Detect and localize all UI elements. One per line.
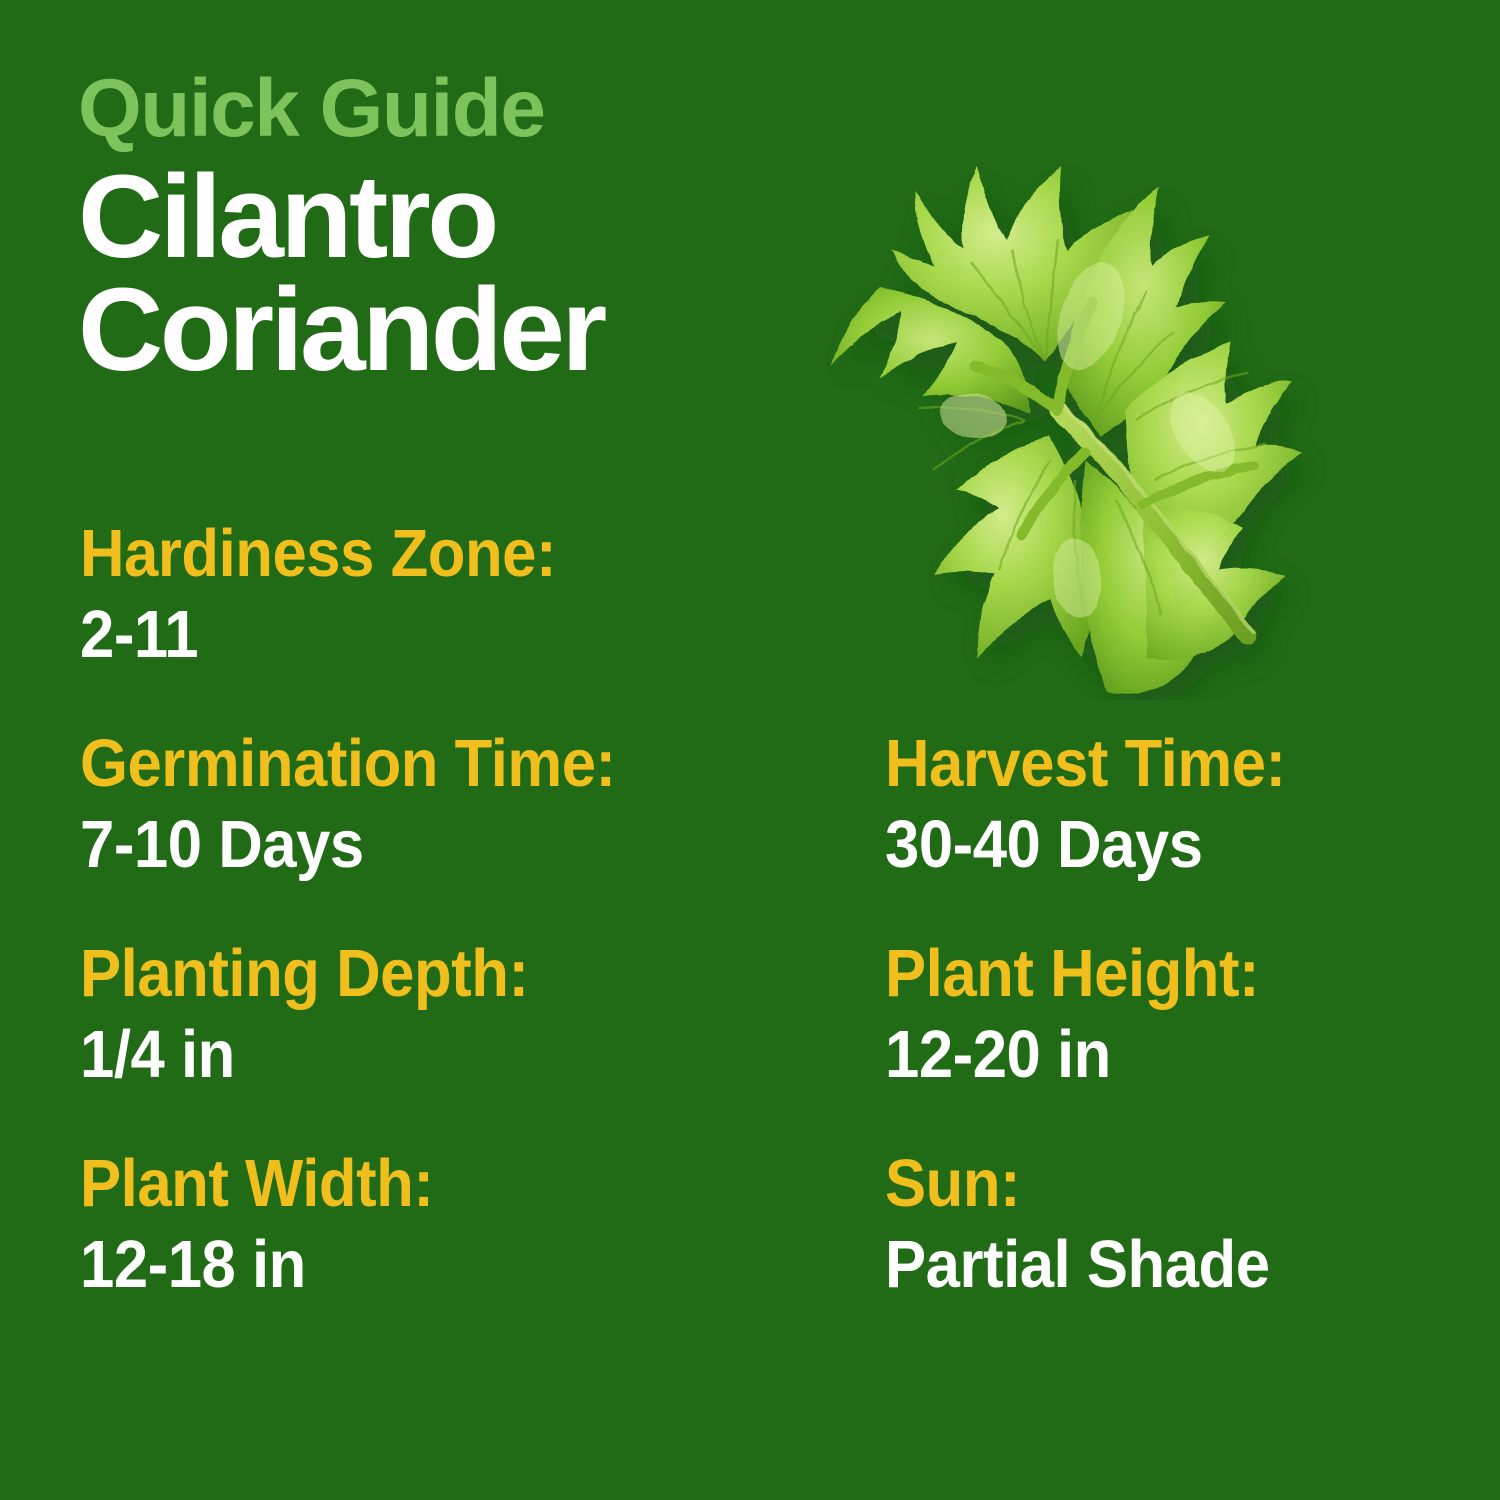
page-title-line-2: Coriander — [78, 269, 778, 392]
spec-value: 30-40 Days — [885, 811, 1396, 878]
spec-value: 1/4 in — [80, 1021, 821, 1088]
spec-cell-plant-height: Plant Height: 12-20 in — [885, 940, 1440, 1088]
spec-row: Hardiness Zone: 2-11 — [80, 520, 1440, 668]
spec-label: Germination Time: — [80, 730, 821, 797]
spec-cell-germination-time: Germination Time: 7-10 Days — [80, 730, 885, 878]
spec-label: Plant Width: — [80, 1150, 821, 1217]
spec-value: 12-20 in — [885, 1021, 1396, 1088]
spec-cell-hardiness-zone: Hardiness Zone: 2-11 — [80, 520, 885, 668]
quick-guide-infographic: Quick Guide Cilantro Coriander — [0, 0, 1500, 1500]
spec-value: Partial Shade — [885, 1231, 1396, 1298]
header-block: Quick Guide Cilantro Coriander — [78, 70, 778, 391]
spec-cell-planting-depth: Planting Depth: 1/4 in — [80, 940, 885, 1088]
spec-value: 12-18 in — [80, 1231, 821, 1298]
spec-list: Hardiness Zone: 2-11 Germination Time: 7… — [80, 520, 1440, 1298]
page-title-line-1: Cilantro — [78, 156, 778, 279]
spec-row: Planting Depth: 1/4 in Plant Height: 12-… — [80, 940, 1440, 1088]
spec-row: Plant Width: 12-18 in Sun: Partial Shade — [80, 1150, 1440, 1298]
eyebrow-quick-guide: Quick Guide — [78, 70, 778, 148]
spec-label: Harvest Time: — [885, 730, 1396, 797]
spec-label: Hardiness Zone: — [80, 520, 821, 587]
spec-cell-harvest-time: Harvest Time: 30-40 Days — [885, 730, 1440, 878]
spec-label: Plant Height: — [885, 940, 1396, 1007]
spec-value: 2-11 — [80, 601, 821, 668]
spec-value: 7-10 Days — [80, 811, 821, 878]
spec-row: Germination Time: 7-10 Days Harvest Time… — [80, 730, 1440, 878]
spec-cell-plant-width: Plant Width: 12-18 in — [80, 1150, 885, 1298]
spec-label: Sun: — [885, 1150, 1396, 1217]
spec-label: Planting Depth: — [80, 940, 821, 1007]
spec-cell-sun: Sun: Partial Shade — [885, 1150, 1440, 1298]
